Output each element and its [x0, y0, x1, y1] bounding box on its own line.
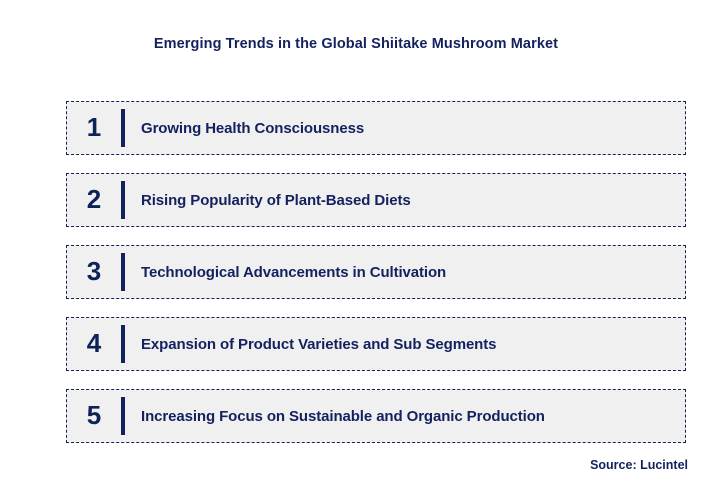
trend-label: Expansion of Product Varieties and Sub S…: [125, 336, 496, 353]
page-title: Emerging Trends in the Global Shiitake M…: [0, 36, 712, 52]
infographic-page: Emerging Trends in the Global Shiitake M…: [0, 0, 712, 501]
list-item[interactable]: 5 Increasing Focus on Sustainable and Or…: [66, 389, 686, 443]
trend-number: 5: [67, 402, 121, 430]
list-item[interactable]: 3 Technological Advancements in Cultivat…: [66, 245, 686, 299]
trend-number: 2: [67, 186, 121, 214]
trend-number: 1: [67, 114, 121, 142]
trend-label: Growing Health Consciousness: [125, 120, 364, 137]
trend-number: 4: [67, 330, 121, 358]
trend-number: 3: [67, 258, 121, 286]
list-item[interactable]: 4 Expansion of Product Varieties and Sub…: [66, 317, 686, 371]
trend-label: Rising Popularity of Plant-Based Diets: [125, 192, 411, 209]
list-item[interactable]: 1 Growing Health Consciousness: [66, 101, 686, 155]
source-attribution: Source: Lucintel: [590, 458, 688, 472]
trend-list: 1 Growing Health Consciousness 2 Rising …: [66, 101, 686, 443]
trend-label: Technological Advancements in Cultivatio…: [125, 264, 446, 281]
trend-label: Increasing Focus on Sustainable and Orga…: [125, 408, 545, 425]
list-item[interactable]: 2 Rising Popularity of Plant-Based Diets: [66, 173, 686, 227]
